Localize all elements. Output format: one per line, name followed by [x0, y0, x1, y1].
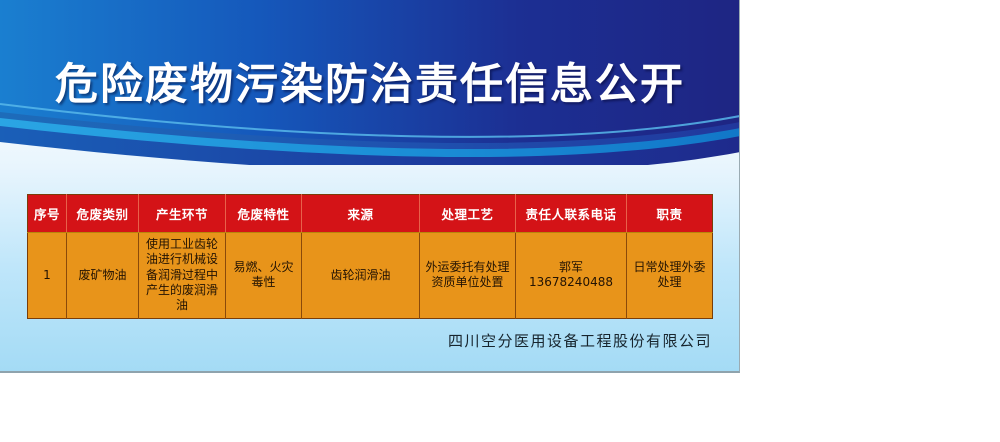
cell-source: 齿轮润滑油: [302, 233, 420, 319]
column-header-contact: 责任人联系电话: [516, 195, 627, 233]
responsible-person-name: 郭军: [519, 260, 623, 275]
column-header-stage: 产生环节: [139, 195, 226, 233]
cell-stage: 使用工业齿轮油进行机械设备润滑过程中产生的废润滑油: [139, 233, 226, 319]
cell-duty: 日常处理外委处理: [627, 233, 713, 319]
table-row: 1 废矿物油 使用工业齿轮油进行机械设备润滑过程中产生的废润滑油 易燃、火灾毒性…: [28, 233, 713, 319]
hazardous-waste-table: 序号 危废类别 产生环节 危废特性 来源 处理工艺 责任人联系电话 职责 1 废…: [27, 194, 713, 319]
cell-contact: 郭军 13678240488: [516, 233, 627, 319]
responsible-person-phone: 13678240488: [519, 275, 623, 290]
company-name: 四川空分医用设备工程股份有限公司: [0, 330, 712, 351]
table-header-row: 序号 危废类别 产生环节 危废特性 来源 处理工艺 责任人联系电话 职责: [28, 195, 713, 233]
hazardous-waste-poster: 危险废物污染防治责任信息公开 序号 危废类别 产生环节 危废特性: [0, 0, 740, 373]
cell-property: 易燃、火灾毒性: [226, 233, 302, 319]
column-header-property: 危废特性: [226, 195, 302, 233]
column-header-index: 序号: [28, 195, 67, 233]
hazardous-waste-table-wrap: 序号 危废类别 产生环节 危废特性 来源 处理工艺 责任人联系电话 职责 1 废…: [27, 194, 712, 319]
page-title: 危险废物污染防治责任信息公开: [0, 50, 740, 112]
column-header-category: 危废类别: [67, 195, 139, 233]
cell-category: 废矿物油: [67, 233, 139, 319]
column-header-treatment: 处理工艺: [420, 195, 516, 233]
cell-index: 1: [28, 233, 67, 319]
banner-header: 危险废物污染防治责任信息公开: [0, 0, 740, 165]
column-header-source: 来源: [302, 195, 420, 233]
cell-treatment: 外运委托有处理资质单位处置: [420, 233, 516, 319]
column-header-duty: 职责: [627, 195, 713, 233]
